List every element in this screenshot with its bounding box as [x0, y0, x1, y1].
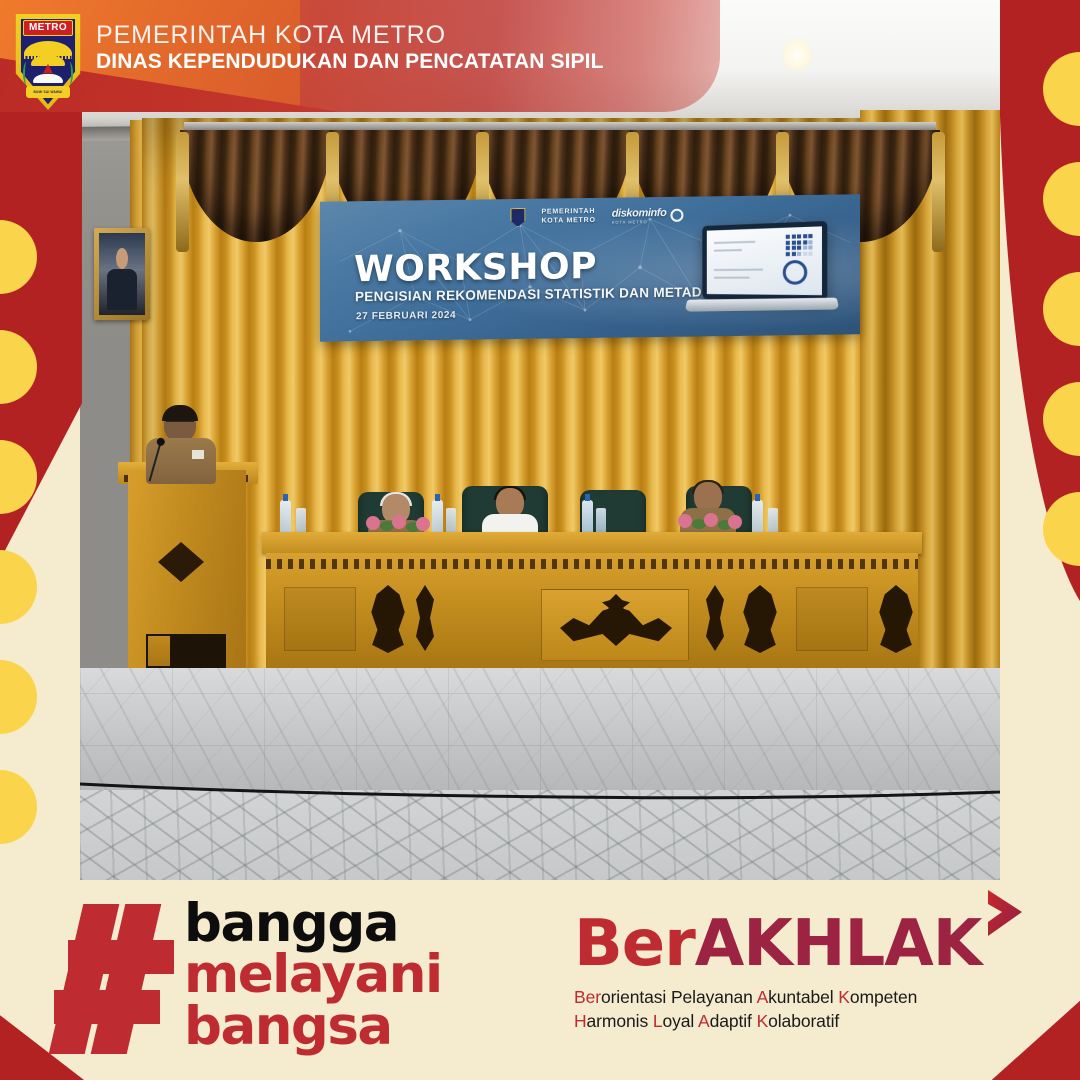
podium-base-accent — [148, 636, 170, 666]
header-text-block: PEMERINTAH KOTA METRO DINAS KEPENDUDUKAN… — [96, 22, 604, 75]
table-ornament — [366, 585, 410, 653]
flower — [678, 514, 692, 528]
berakhlak-word: ompeten — [850, 987, 917, 1007]
speaker-hair — [162, 405, 198, 421]
flower — [392, 515, 406, 529]
berakhlak-subtitle-line1: Berorientasi Pelayanan Akuntabel Kompete… — [574, 986, 1034, 1010]
flower — [366, 516, 380, 530]
header-title-line2: DINAS KEPENDUDUKAN DAN PENCATATAN SIPIL — [96, 49, 604, 75]
diskominfo-logo: diskominfo KOTA METRO — [612, 207, 684, 225]
portrait-body — [107, 269, 136, 310]
table-ornament — [706, 585, 724, 651]
diskominfo-subtext: KOTA METRO — [612, 219, 667, 225]
speaker-glasses — [166, 420, 194, 427]
banner-gov-line2: KOTA METRO — [541, 216, 595, 226]
banner-title: WORKSHOP — [354, 246, 597, 290]
diskominfo-ring-icon — [670, 209, 683, 222]
berakhlak-word: oyal — [663, 1011, 699, 1031]
berakhlak-subtitle: Berorientasi Pelayanan Akuntabel Kompete… — [574, 986, 1034, 1033]
berakhlak-initial: K — [757, 1011, 769, 1031]
banner-gov-line1: PEMERINTAH — [541, 208, 595, 218]
header-bar: PEMERINTAH KOTA METRO DINAS KEPENDUDUKAN… — [0, 0, 720, 112]
banner-date: 27 FEBRUARI 2024 — [356, 310, 456, 322]
berakhlak-initial: H — [574, 1011, 587, 1031]
crest-ribbon-text: METRO — [29, 22, 67, 33]
table-panel — [796, 587, 868, 651]
portrait-image — [99, 233, 145, 315]
valance-swag — [180, 130, 332, 242]
water-bottle — [582, 500, 593, 534]
table-center-ornament — [560, 606, 672, 646]
bangga-line-2: melayani — [184, 949, 442, 1000]
berakhlak-subtitle-line2: Harmonis Loyal Adaptif Kolaboratif — [574, 1010, 1034, 1034]
berakhlak-word: orientasi Pelayanan — [601, 987, 757, 1007]
cable-path-icon — [80, 778, 1000, 804]
berakhlak-initial: K — [838, 987, 850, 1007]
drinking-glass — [446, 508, 456, 534]
bangga-line-1: bangga — [184, 898, 442, 949]
head-table-top — [262, 532, 922, 554]
berakhlak-wordmark: BerAKHLAK — [574, 912, 1034, 976]
drinking-glass — [596, 508, 606, 534]
table-ornament — [738, 585, 782, 653]
hash-stroke — [68, 940, 174, 974]
head-table-front — [266, 553, 918, 671]
donut-chart-icon — [783, 260, 808, 285]
speaker-person — [140, 408, 220, 478]
chart-blocks-icon — [786, 234, 813, 256]
diskominfo-wordmark: diskominfo KOTA METRO — [612, 207, 667, 225]
speaker-uniform — [146, 438, 216, 484]
president-portrait-frame — [94, 228, 150, 320]
screen-line — [714, 249, 742, 252]
bangga-text-block: bangga melayani bangsa — [184, 898, 442, 1052]
screen-line — [714, 269, 763, 271]
laptop-screen-content — [707, 226, 822, 295]
berakhlak-word: daptif — [710, 1011, 757, 1031]
banner-gov-text: PEMERINTAH KOTA METRO — [541, 208, 595, 226]
crest-scroll-text: BUMI SAI WAWAI — [33, 90, 62, 94]
laptop-screen — [702, 221, 827, 301]
berakhlak-initial: L — [653, 1011, 663, 1031]
table-panel — [284, 587, 356, 651]
speaker-name-badge — [192, 450, 204, 459]
crest-wreath-left — [23, 62, 30, 85]
table-center-panel — [541, 589, 689, 661]
berakhlak-word: olaboratif — [768, 1011, 839, 1031]
screen-line — [714, 277, 749, 279]
diskominfo-name: diskominfo — [612, 207, 667, 220]
podium — [128, 470, 246, 670]
crest-scroll: BUMI SAI WAWAI — [26, 86, 71, 98]
portrait-face — [116, 248, 128, 269]
metro-city-crest-logo: METRO BUMI SAI WAWAI — [13, 14, 83, 110]
flower — [704, 513, 718, 527]
hash-stroke — [54, 990, 160, 1024]
berakhlak-word: armonis — [587, 1011, 653, 1031]
bangga-melayani-bangsa-logo: bangga melayani bangsa — [62, 898, 482, 1068]
berakhlak-word: kuntabel — [768, 987, 838, 1007]
berakhlak-initial: A — [757, 987, 769, 1007]
berakhlak-logo: BerAKHLAK Berorientasi Pelayanan Akuntab… — [574, 912, 1034, 1072]
berakhlak-initial: A — [698, 1011, 710, 1031]
screen-line — [714, 241, 755, 244]
table-ornament — [416, 585, 434, 651]
flower-arrangement — [676, 512, 746, 534]
crest-ribbon: METRO — [23, 20, 73, 36]
event-photo: PEMERINTAH KOTA METRO diskominfo KOTA ME… — [80, 0, 1000, 880]
drinking-glass — [296, 508, 306, 534]
water-bottle — [752, 500, 763, 534]
curtain-rod — [184, 122, 936, 130]
chevron-right-icon — [982, 888, 1028, 940]
berakhlak-initial: Ber — [574, 987, 601, 1007]
crest-book-icon — [33, 74, 64, 84]
laptop-illustration — [686, 223, 838, 321]
water-bottle — [280, 500, 291, 534]
decor-dot — [0, 660, 37, 734]
bangga-line-3: bangsa — [184, 1001, 442, 1052]
laptop-base — [685, 298, 840, 312]
decor-dot — [0, 770, 37, 844]
banner-logo-row: PEMERINTAH KOTA METRO diskominfo KOTA ME… — [510, 206, 683, 227]
table-ornament — [874, 585, 918, 653]
decor-dot — [0, 550, 37, 624]
poster-canvas: PEMERINTAH KOTA METRO diskominfo KOTA ME… — [0, 0, 1080, 1080]
berakhlak-ber: Ber — [574, 907, 695, 981]
valance-tassel — [932, 132, 945, 252]
berakhlak-akhlak: AKHLAK — [695, 907, 982, 981]
ceiling-light — [782, 38, 812, 72]
header-title-line1: PEMERINTAH KOTA METRO — [96, 22, 604, 49]
banner-crest-icon — [510, 208, 525, 227]
podium-ornament — [158, 542, 204, 582]
flower — [728, 515, 742, 529]
hashtag-icon — [62, 904, 192, 1054]
drinking-glass — [768, 508, 778, 534]
workshop-backdrop-banner: PEMERINTAH KOTA METRO diskominfo KOTA ME… — [320, 194, 860, 342]
valance-tassel — [176, 132, 189, 252]
flower — [416, 517, 430, 531]
floor-cable — [80, 778, 1000, 804]
